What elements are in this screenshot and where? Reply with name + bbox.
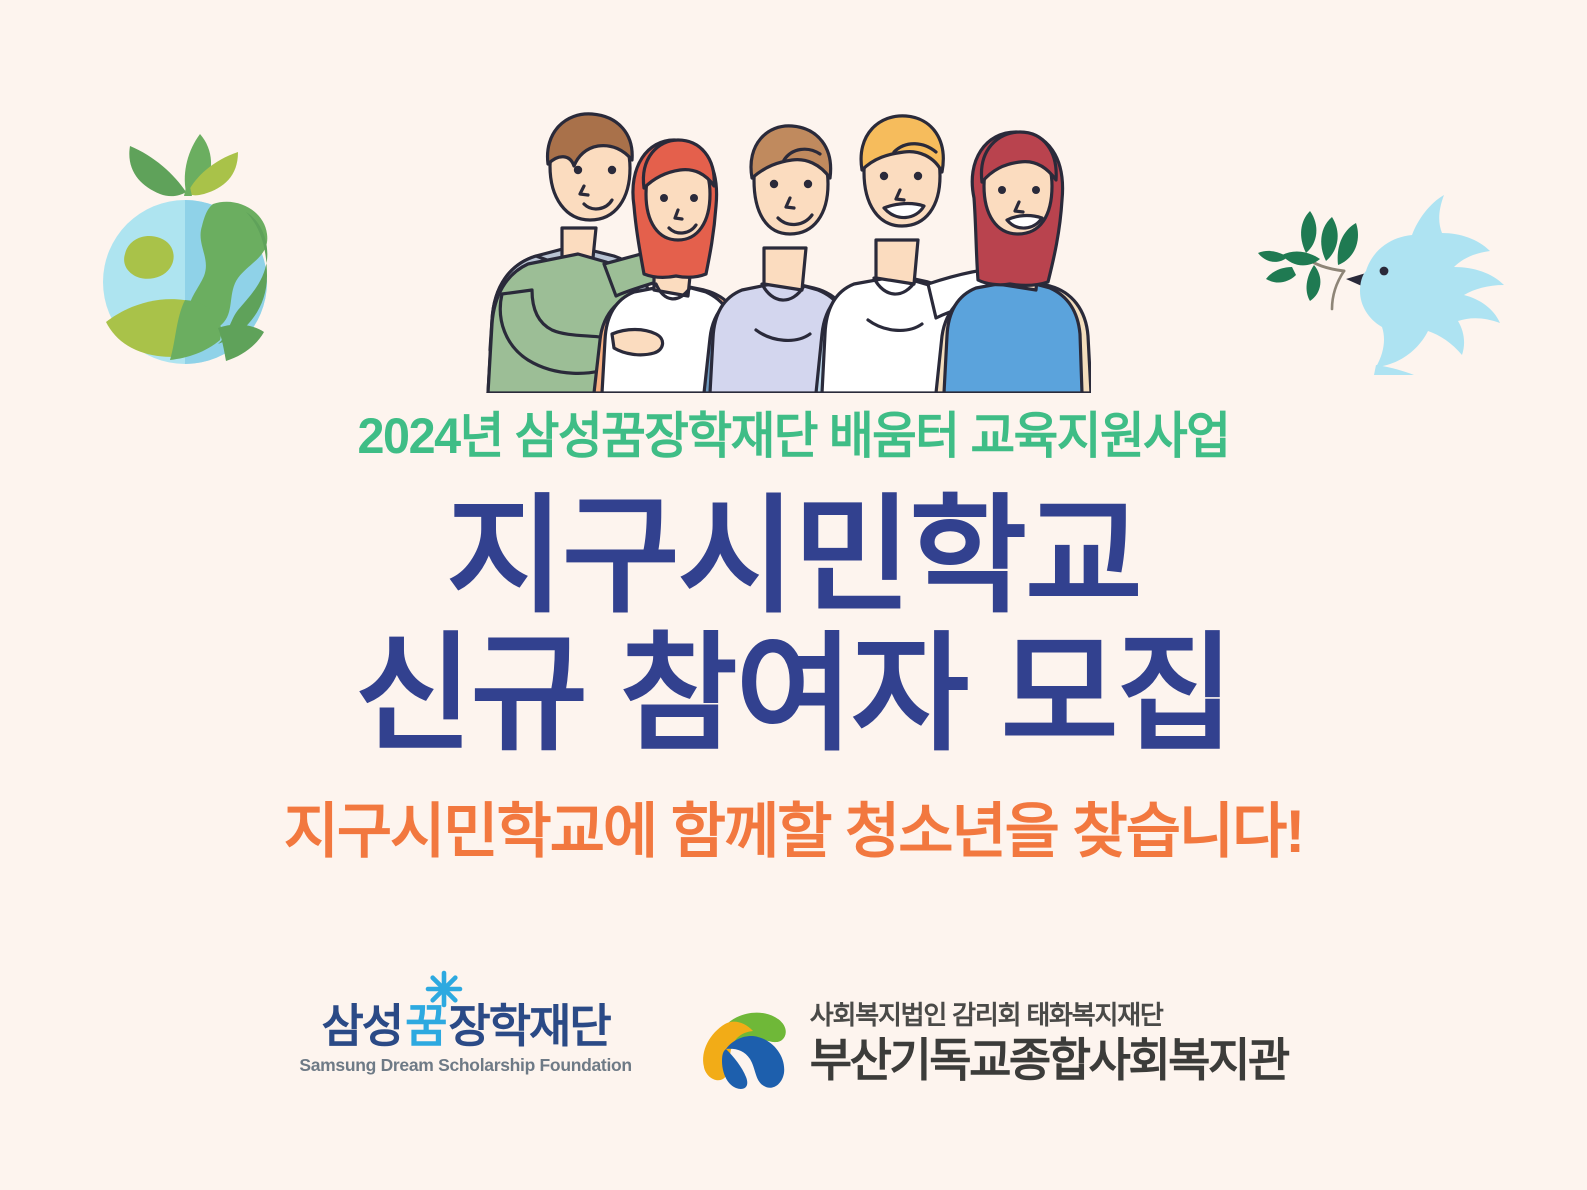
earth-globe-icon	[78, 100, 293, 365]
busan-christian-social-welfare-center-logo: 사회복지법인 감리회 태화복지재단 부산기독교종합사회복지관	[692, 985, 1288, 1093]
busan-logo-title: 부산기독교종합사회복지관	[810, 1036, 1288, 1084]
sparkle-icon	[424, 969, 464, 1009]
poster-tagline: 지구시민학교에 함께할 청소년을 찾습니다!	[0, 796, 1587, 868]
samsung-logo-part1: 삼성	[321, 1003, 402, 1049]
samsung-logo-english: Samsung Dream Scholarship Foundation	[299, 1055, 631, 1076]
sponsor-logo-row: 삼성 꿈 장학재단	[0, 985, 1587, 1093]
poster-text-block: 2024년 삼성꿈장학재단 배움터 교육지원사업 지구시민학교 신규 참여자 모…	[0, 408, 1587, 868]
samsung-logo-part2: 장학재단	[448, 1003, 609, 1049]
peace-dove-icon	[1248, 175, 1513, 375]
headline-line-2: 신규 참여자 모집	[0, 626, 1587, 764]
friends-group-illustration	[466, 88, 1091, 393]
poster-canvas: 2024년 삼성꿈장학재단 배움터 교육지원사업 지구시민학교 신규 참여자 모…	[0, 0, 1587, 1190]
poster-eyebrow: 2024년 삼성꿈장학재단 배움터 교육지원사업	[24, 408, 1563, 466]
samsung-logo-kkum: 꿈	[402, 1003, 448, 1049]
samsung-wordmark: 삼성 꿈 장학재단	[321, 1003, 609, 1049]
busan-logo-subtitle: 사회복지법인 감리회 태화복지재단	[810, 1002, 1288, 1029]
tri-swirl-icon	[692, 993, 794, 1093]
page-title: 지구시민학교 신규 참여자 모집	[0, 488, 1587, 764]
headline-line-1: 지구시민학교	[0, 488, 1587, 626]
samsung-dream-scholarship-foundation-logo: 삼성 꿈 장학재단	[299, 985, 631, 1076]
busan-logo-text: 사회복지법인 감리회 태화복지재단 부산기독교종합사회복지관	[810, 1002, 1288, 1084]
